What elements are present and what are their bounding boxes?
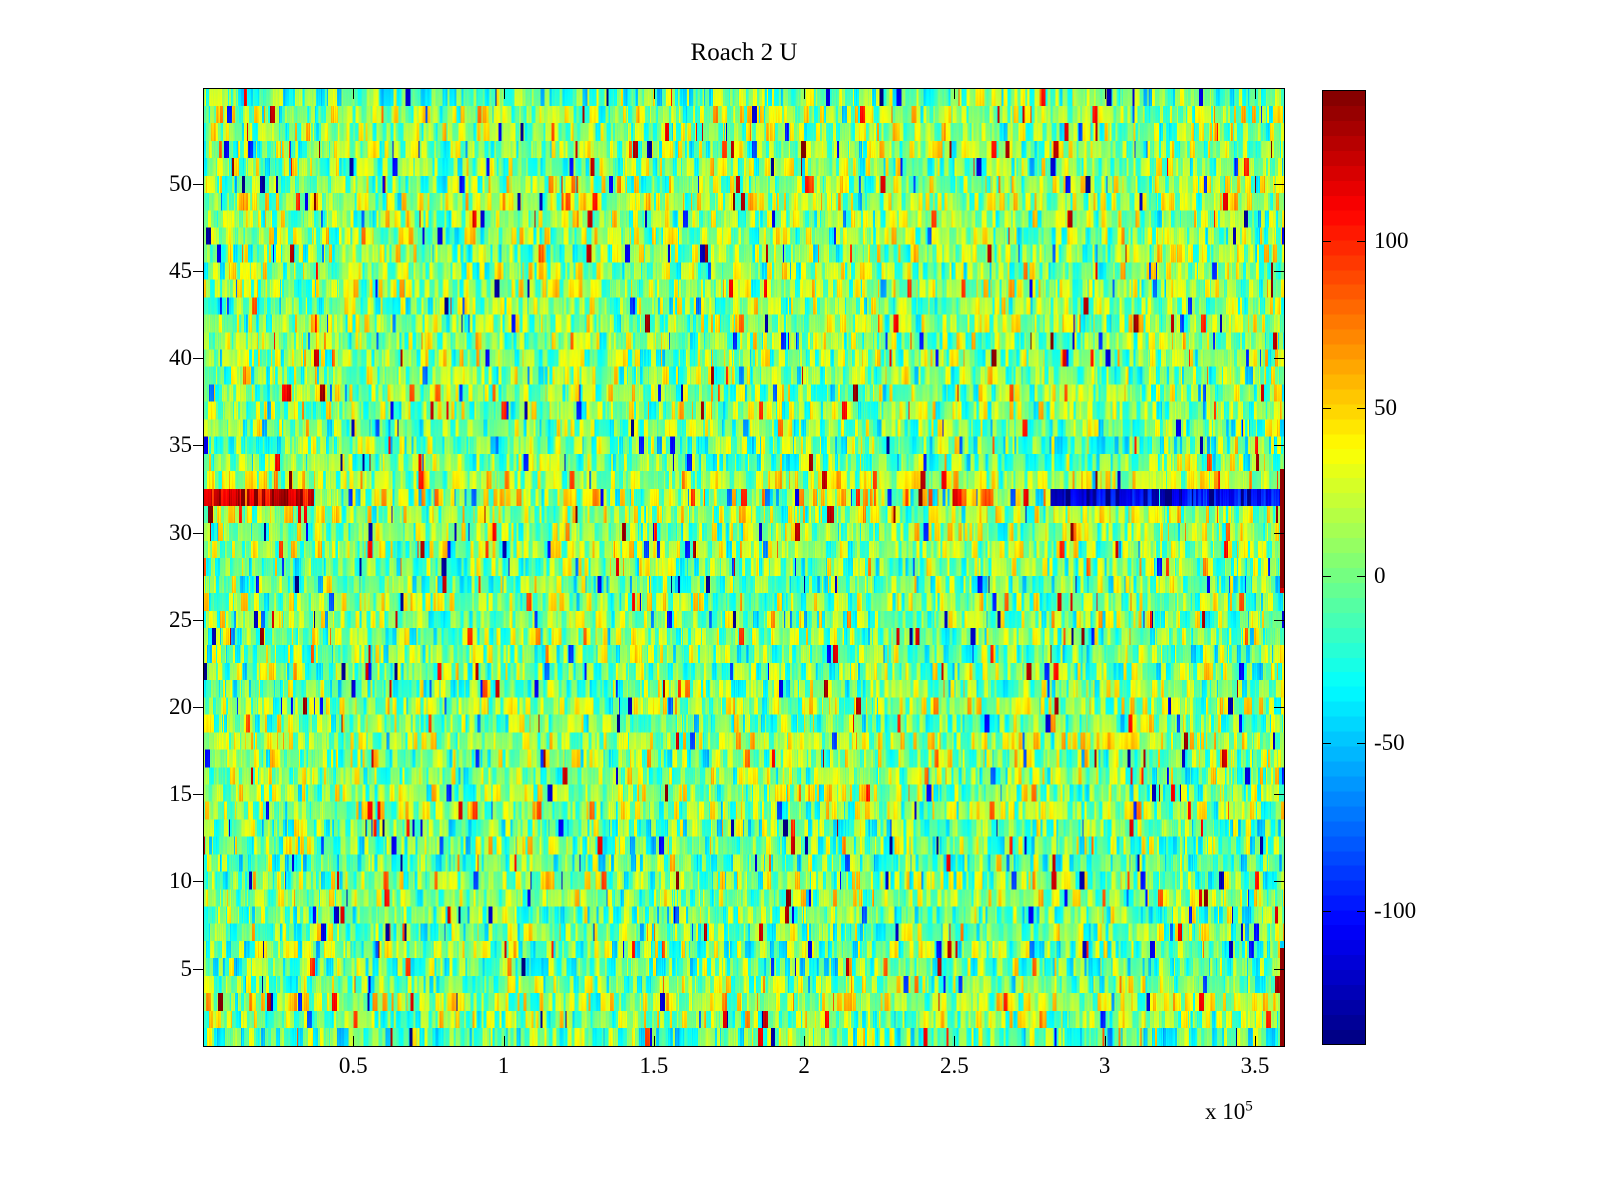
x-tick-mark-top — [804, 88, 805, 99]
x-tick-label: 0.5 — [339, 1054, 368, 1077]
colorbar[interactable] — [1322, 90, 1366, 1045]
colorbar-tick-mark — [1322, 743, 1331, 744]
x-tick-mark-top — [654, 88, 655, 99]
y-tick-mark — [193, 969, 204, 970]
y-tick-mark-right — [1274, 707, 1285, 708]
colorbar-tick-label: 50 — [1374, 396, 1397, 419]
y-tick-mark-right — [1274, 358, 1285, 359]
x-tick-label: 2.5 — [940, 1054, 969, 1077]
y-tick-mark-right — [1274, 881, 1285, 882]
y-tick-label: 25 — [169, 608, 192, 631]
colorbar-tick-label: -50 — [1374, 731, 1405, 754]
colorbar-tick-mark-right — [1357, 408, 1366, 409]
colorbar-tick-label: -100 — [1374, 899, 1416, 922]
x-tick-mark-top — [954, 88, 955, 99]
y-tick-mark-right — [1274, 794, 1285, 795]
y-tick-mark-right — [1274, 533, 1285, 534]
y-tick-mark — [193, 271, 204, 272]
y-tick-label: 30 — [169, 521, 192, 544]
y-tick-label: 50 — [169, 172, 192, 195]
x-tick-label: 2 — [798, 1054, 810, 1077]
x-tick-mark — [954, 1036, 955, 1047]
x-tick-mark-top — [1105, 88, 1106, 99]
y-tick-mark — [193, 445, 204, 446]
colorbar-tick-mark-right — [1357, 743, 1366, 744]
y-tick-label: 35 — [169, 433, 192, 456]
y-tick-mark — [193, 358, 204, 359]
x-tick-label: 1 — [498, 1054, 510, 1077]
y-tick-mark — [193, 794, 204, 795]
x-tick-mark-top — [504, 88, 505, 99]
y-tick-mark-right — [1274, 620, 1285, 621]
colorbar-tick-mark — [1322, 408, 1331, 409]
colorbar-gradient — [1323, 91, 1365, 1044]
x-tick-mark-top — [1255, 88, 1256, 99]
y-tick-mark-right — [1274, 184, 1285, 185]
figure-canvas: Roach 2 U 5101520253035404550 0.511.522.… — [0, 0, 1600, 1200]
colorbar-tick-label: 0 — [1374, 564, 1386, 587]
y-tick-mark — [193, 533, 204, 534]
heatmap-axes[interactable] — [203, 88, 1285, 1047]
y-tick-label: 45 — [169, 259, 192, 282]
colorbar-tick-mark — [1322, 911, 1331, 912]
y-tick-mark — [193, 620, 204, 621]
colorbar-tick-mark — [1322, 241, 1331, 242]
y-tick-label: 40 — [169, 346, 192, 369]
colorbar-tick-mark-right — [1357, 911, 1366, 912]
x-tick-mark — [353, 1036, 354, 1047]
page-title: Roach 2 U — [203, 40, 1285, 65]
y-tick-mark-right — [1274, 445, 1285, 446]
colorbar-tick-mark — [1322, 576, 1331, 577]
y-tick-label: 20 — [169, 695, 192, 718]
y-tick-mark-right — [1274, 969, 1285, 970]
x-tick-label: 1.5 — [639, 1054, 668, 1077]
x-tick-mark — [1105, 1036, 1106, 1047]
y-tick-mark — [193, 707, 204, 708]
x-tick-mark — [1255, 1036, 1256, 1047]
y-tick-mark — [193, 184, 204, 185]
heatmap-image — [204, 89, 1284, 1046]
x-tick-label: 3.5 — [1241, 1054, 1270, 1077]
y-tick-mark-right — [1274, 271, 1285, 272]
x-tick-mark — [804, 1036, 805, 1047]
x-axis-exponent-label: x 105 — [1205, 1100, 1253, 1123]
y-tick-label: 10 — [169, 869, 192, 892]
x-tick-mark — [504, 1036, 505, 1047]
x-tick-mark-top — [353, 88, 354, 99]
colorbar-tick-mark-right — [1357, 576, 1366, 577]
y-tick-label: 15 — [169, 782, 192, 805]
x-exponent-power: 5 — [1245, 1098, 1253, 1114]
y-tick-mark — [193, 881, 204, 882]
y-tick-label: 5 — [181, 957, 193, 980]
x-exponent-base: x 10 — [1205, 1099, 1245, 1124]
colorbar-tick-label: 100 — [1374, 229, 1409, 252]
x-tick-mark — [654, 1036, 655, 1047]
x-tick-label: 3 — [1099, 1054, 1111, 1077]
colorbar-tick-mark-right — [1357, 241, 1366, 242]
